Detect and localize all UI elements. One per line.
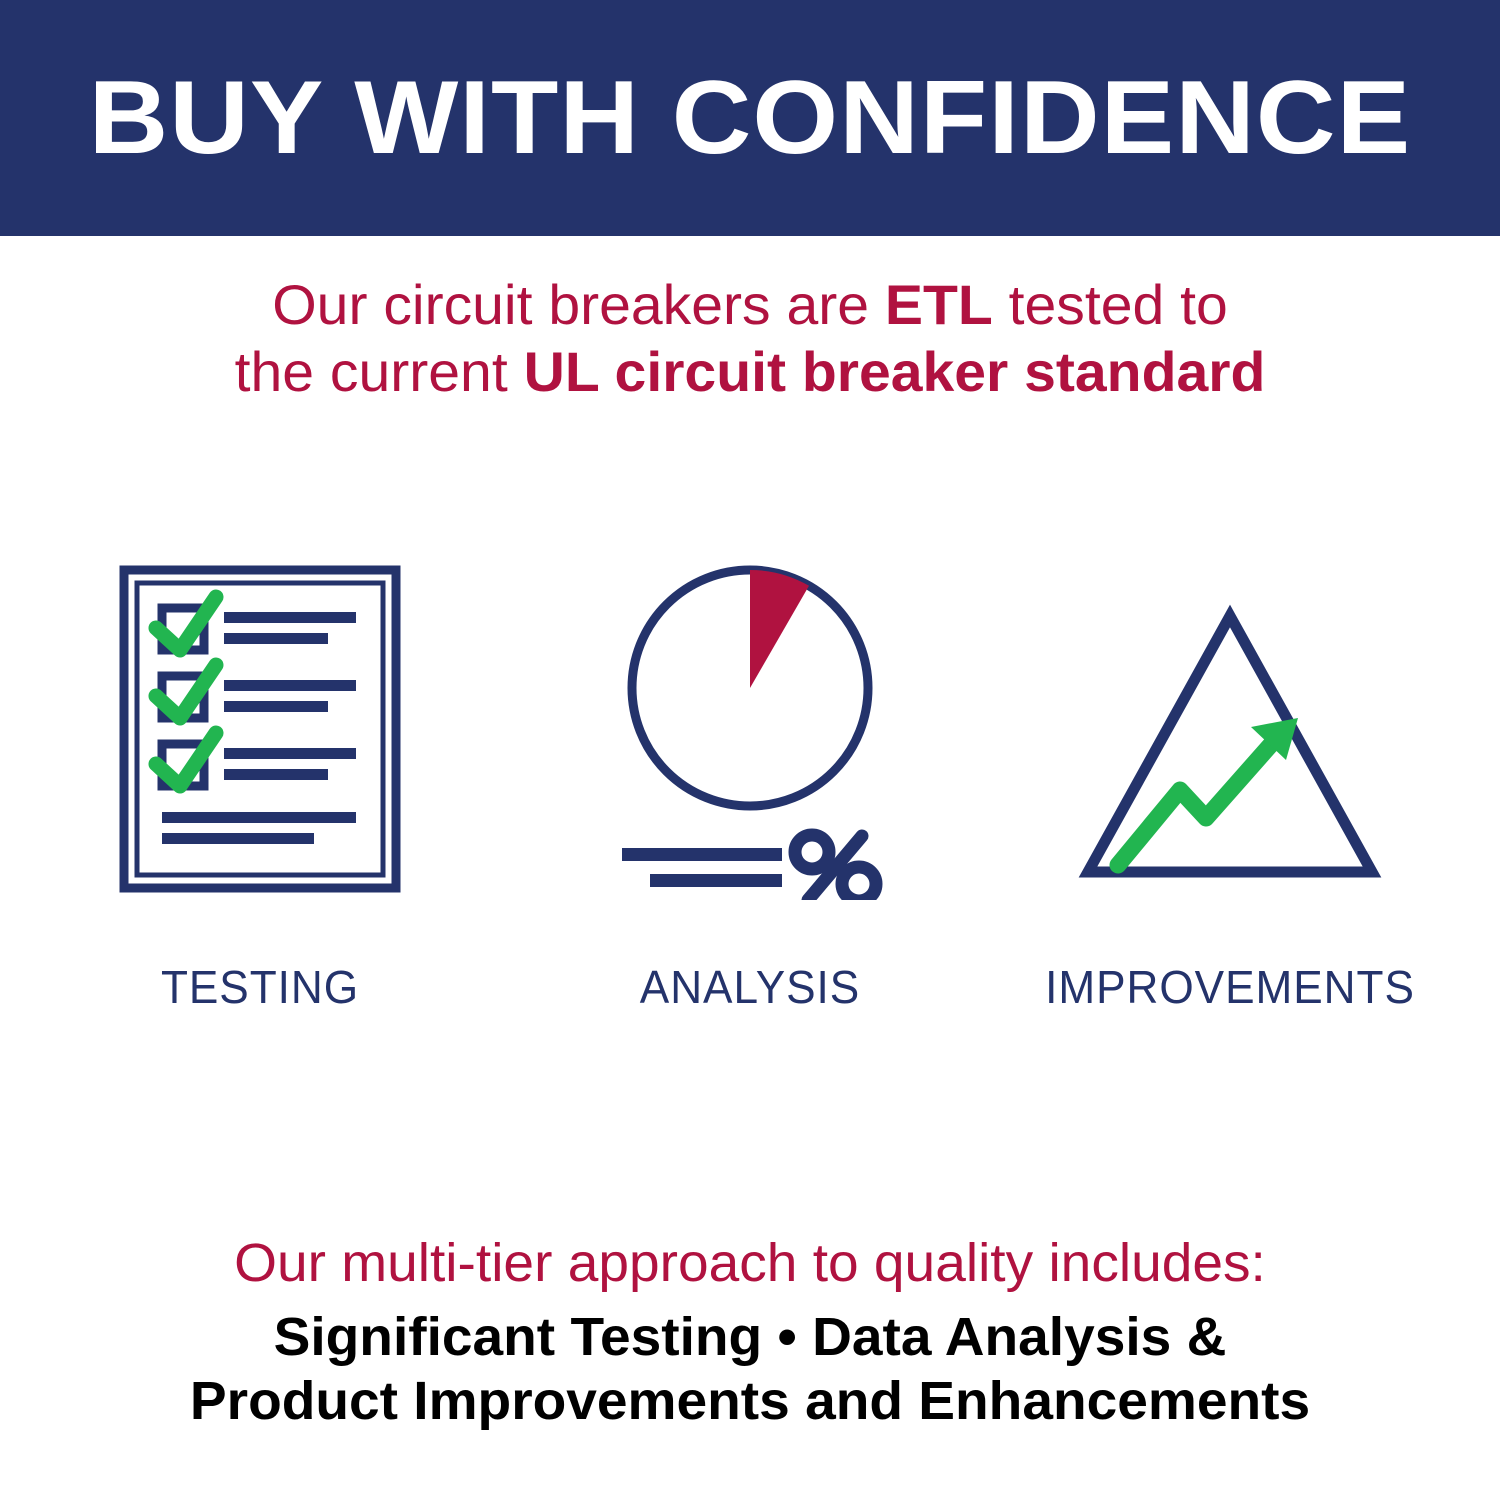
analysis-icon-art — [530, 560, 970, 920]
icon-label-testing: TESTING — [49, 960, 471, 1014]
subtitle-line-1-text-b: tested to — [993, 273, 1228, 336]
triangle-growth-arrow-icon — [1070, 560, 1390, 900]
footer-body-line-2: Product Improvements and Enhancements — [0, 1369, 1500, 1434]
testing-icon-art — [40, 560, 480, 920]
icon-column-improvements: IMPROVEMENTS — [1010, 560, 1450, 1040]
icon-column-testing: TESTING — [40, 560, 480, 1040]
percent-glyph — [795, 835, 876, 900]
pie-chart-percent-icon — [600, 560, 900, 900]
header-banner: BUY WITH CONFIDENCE — [0, 0, 1500, 236]
subtitle-line-1: Our circuit breakers are ETL tested to — [0, 272, 1500, 339]
page-title: BUY WITH CONFIDENCE — [89, 66, 1412, 170]
checklist-document-icon — [110, 560, 410, 900]
infographic-page: BUY WITH CONFIDENCE Our circuit breakers… — [0, 0, 1500, 1500]
icon-label-improvements: IMPROVEMENTS — [1019, 960, 1441, 1014]
footer-lead-line: Our multi-tier approach to quality inclu… — [0, 1232, 1500, 1295]
subtitle-line-1-text-a: Our circuit breakers are — [272, 273, 885, 336]
footer-body-line-1: Significant Testing • Data Analysis & — [0, 1305, 1500, 1370]
icon-column-analysis: ANALYSIS — [530, 560, 970, 1040]
subtitle-line-2-text-a: the current — [235, 340, 524, 403]
improvements-icon-art — [1010, 560, 1450, 920]
subtitle-etl-emphasis: ETL — [885, 273, 993, 336]
subtitle-line-2: the current UL circuit breaker standard — [0, 339, 1500, 406]
icon-row: TESTING — [0, 560, 1500, 1040]
icon-label-analysis: ANALYSIS — [539, 960, 961, 1014]
subtitle-ul-emphasis: UL circuit breaker standard — [524, 340, 1266, 403]
footer-text-block: Our multi-tier approach to quality inclu… — [0, 1232, 1500, 1434]
subtitle-block: Our circuit breakers are ETL tested to t… — [0, 272, 1500, 405]
